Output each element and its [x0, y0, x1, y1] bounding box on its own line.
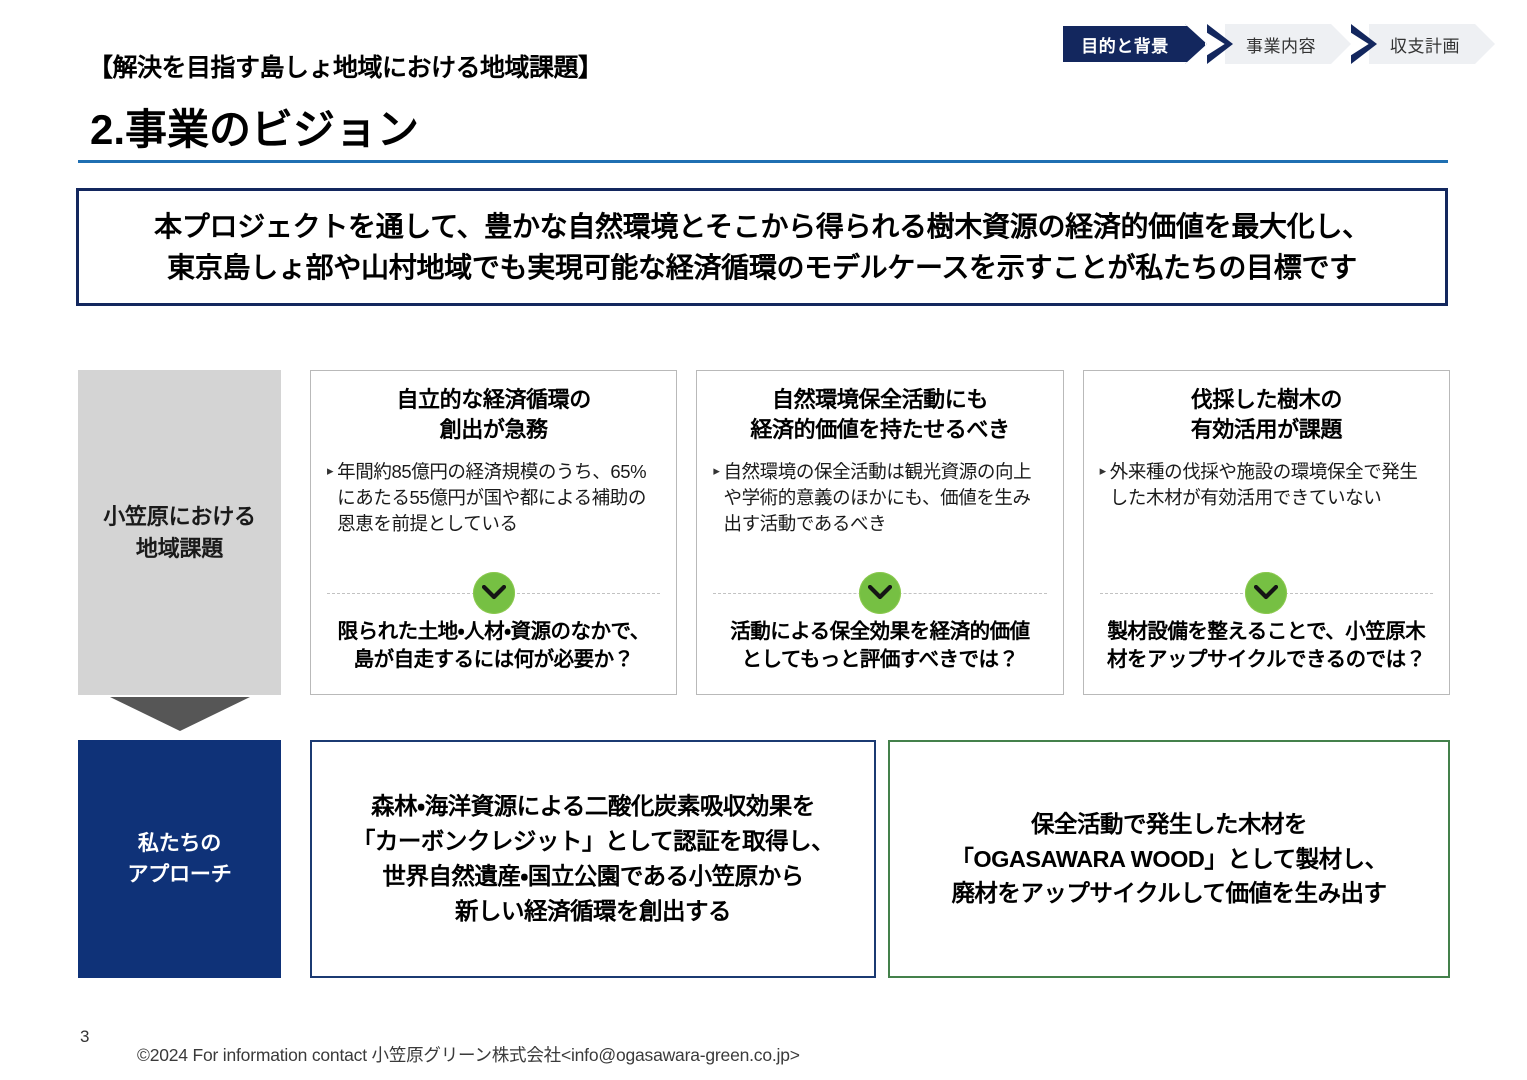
issue-cards-row: 自立的な経済循環の 創出が急務 ▸ 年間約85億円の経済規模のうち、65%にあた… — [310, 370, 1450, 695]
issue-card-conclusion-line1: 製材設備を整えることで、小笠原木 — [1107, 620, 1425, 643]
approach-line: 廃材をアップサイクルして価値を生み出す — [950, 876, 1387, 911]
nav-tab-label: 目的と背景 — [1081, 32, 1169, 57]
title-divider — [78, 160, 1448, 163]
local-issues-panel: 小笠原における 地域課題 — [78, 370, 281, 695]
page-title: 2.事業のビジョン — [90, 96, 419, 157]
issue-card-title: 伐採した樹木の 有効活用が課題 — [1100, 385, 1433, 445]
issue-card-title-line1: 自然環境保全活動にも — [772, 387, 988, 412]
issue-card: 自然環境保全活動にも 経済的価値を持たせるべき ▸ 自然環境の保全活動は観光資源… — [696, 370, 1063, 695]
bullet-triangle-icon: ▸ — [1100, 459, 1106, 483]
local-issues-label-line1: 小笠原における — [103, 504, 256, 529]
approach-box-carbon-credit: 森林・海洋資源による二酸化炭素吸収効果を 「カーボンクレジット」として認証を取得… — [310, 740, 876, 978]
approach-box-text: 保全活動で発生した木材を 「OGASAWARA WOOD」として製材し、 廃材を… — [950, 807, 1387, 911]
issue-card-bullet: ▸ 年間約85億円の経済規模のうち、65%にあたる55億円が国や都による補助の恩… — [327, 459, 660, 538]
issue-card-title-line2: 経済的価値を持たせるべき — [750, 417, 1009, 442]
bullet-triangle-icon: ▸ — [713, 459, 719, 483]
our-approach-panel: 私たちの アプローチ — [78, 740, 281, 978]
issue-card-divider — [713, 570, 1046, 616]
footer-copyright: ©2024 For information contact 小笠原グリーン株式会… — [137, 1042, 800, 1067]
issue-card-conclusion-line2: としてもっと評価すべきでは？ — [742, 648, 1019, 671]
chevron-right-icon — [1207, 24, 1233, 64]
nav-tab-label: 事業内容 — [1246, 32, 1316, 57]
issue-card-conclusion: 限られた土地・人材・資源のなかで、 島が自走するには何が必要か？ — [327, 618, 660, 686]
approach-boxes-row: 森林・海洋資源による二酸化炭素吸収効果を 「カーボンクレジット」として認証を取得… — [310, 740, 1450, 978]
nav-tab-business-content[interactable]: 事業内容 — [1225, 24, 1351, 64]
vision-statement-line: 東京島しょ部や山村地域でも実現可能な経済循環のモデルケースを示すことが私たちの目… — [167, 247, 1357, 288]
issue-card-bullet-text: 自然環境の保全活動は観光資源の向上や学術的意義のほかにも、価値を生み出す活動であ… — [723, 459, 1046, 538]
issue-card-title-line1: 自立的な経済循環の — [396, 387, 590, 412]
vision-statement-line: 本プロジェクトを通して、豊かな自然環境とそこから得られる樹木資源の経済的価値を最… — [154, 206, 1370, 247]
issue-card-title-line2: 創出が急務 — [440, 417, 548, 442]
approach-line: 「カーボンクレジット」として認証を取得し、 — [352, 824, 834, 859]
issue-card-bullet: ▸ 自然環境の保全活動は観光資源の向上や学術的意義のほかにも、価値を生み出す活動… — [713, 459, 1046, 538]
arrow-down-icon — [110, 697, 250, 731]
approach-box-text: 森林・海洋資源による二酸化炭素吸収効果を 「カーボンクレジット」として認証を取得… — [352, 789, 834, 928]
issue-card-conclusion: 活動による保全効果を経済的価値 としてもっと評価すべきでは？ — [713, 618, 1046, 686]
issue-card-conclusion-line2: 材をアップサイクルできるのでは？ — [1107, 648, 1426, 671]
bullet-triangle-icon: ▸ — [327, 459, 333, 483]
our-approach-panel-label: 私たちの アプローチ — [128, 828, 232, 891]
approach-line: 新しい経済循環を創出する — [352, 894, 834, 929]
chevron-down-circle-icon — [859, 572, 901, 614]
issue-card: 伐採した樹木の 有効活用が課題 ▸ 外来種の伐採や施設の環境保全で発生した木材が… — [1083, 370, 1450, 695]
slide-eyebrow: 【解決を目指す島しょ地域における地域課題】 — [88, 48, 603, 84]
our-approach-label-line2: アプローチ — [128, 863, 232, 886]
vision-statement-box: 本プロジェクトを通して、豊かな自然環境とそこから得られる樹木資源の経済的価値を最… — [76, 188, 1448, 306]
section-nav-chevrons: 目的と背景 事業内容 収支計画 — [1061, 24, 1495, 64]
chevron-down-circle-icon — [1245, 572, 1287, 614]
nav-tab-purpose-background[interactable]: 目的と背景 — [1061, 24, 1207, 64]
issue-card-bullet-text: 年間約85億円の経済規模のうち、65%にあたる55億円が国や都による補助の恩恵を… — [337, 459, 660, 538]
issue-card-conclusion: 製材設備を整えることで、小笠原木 材をアップサイクルできるのでは？ — [1100, 618, 1433, 686]
issue-card-bullet: ▸ 外来種の伐採や施設の環境保全で発生した木材が有効活用できていない — [1100, 459, 1433, 512]
page-number: 3 — [80, 1027, 89, 1047]
issue-card-title-line1: 伐採した樹木の — [1191, 387, 1342, 412]
approach-line: 保全活動で発生した木材を — [950, 807, 1387, 842]
issue-card-conclusion-line1: 限られた土地・人材・資源のなかで、 — [338, 620, 650, 643]
issue-card-title-line2: 有効活用が課題 — [1191, 417, 1342, 442]
issue-card-title: 自立的な経済循環の 創出が急務 — [327, 385, 660, 445]
issue-card-divider — [1100, 570, 1433, 616]
issue-card-conclusion-line2: 島が自走するには何が必要か？ — [354, 648, 634, 671]
approach-line: 森林・海洋資源による二酸化炭素吸収効果を — [352, 789, 834, 824]
nav-tab-income-plan[interactable]: 収支計画 — [1369, 24, 1495, 64]
issue-card-title: 自然環境保全活動にも 経済的価値を持たせるべき — [713, 385, 1046, 445]
our-approach-label-line1: 私たちの — [138, 832, 221, 855]
approach-box-ogasawara-wood: 保全活動で発生した木材を 「OGASAWARA WOOD」として製材し、 廃材を… — [888, 740, 1450, 978]
issue-card-divider — [327, 570, 660, 616]
local-issues-panel-label: 小笠原における 地域課題 — [103, 501, 256, 565]
chevron-right-icon — [1351, 24, 1377, 64]
local-issues-label-line2: 地域課題 — [136, 536, 223, 561]
slide: 目的と背景 事業内容 収支計画 【解決を目指す島しょ地域における地域課題】 2.… — [0, 0, 1527, 1080]
chevron-down-circle-icon — [473, 572, 515, 614]
approach-line: 「OGASAWARA WOOD」として製材し、 — [950, 842, 1387, 877]
issue-card-conclusion-line1: 活動による保全効果を経済的価値 — [730, 620, 1029, 643]
issue-card-bullet-text: 外来種の伐採や施設の環境保全で発生した木材が有効活用できていない — [1110, 459, 1433, 512]
nav-tab-label: 収支計画 — [1390, 32, 1460, 57]
approach-line: 世界自然遺産・国立公園である小笠原から — [352, 859, 834, 894]
issue-card: 自立的な経済循環の 創出が急務 ▸ 年間約85億円の経済規模のうち、65%にあた… — [310, 370, 677, 695]
